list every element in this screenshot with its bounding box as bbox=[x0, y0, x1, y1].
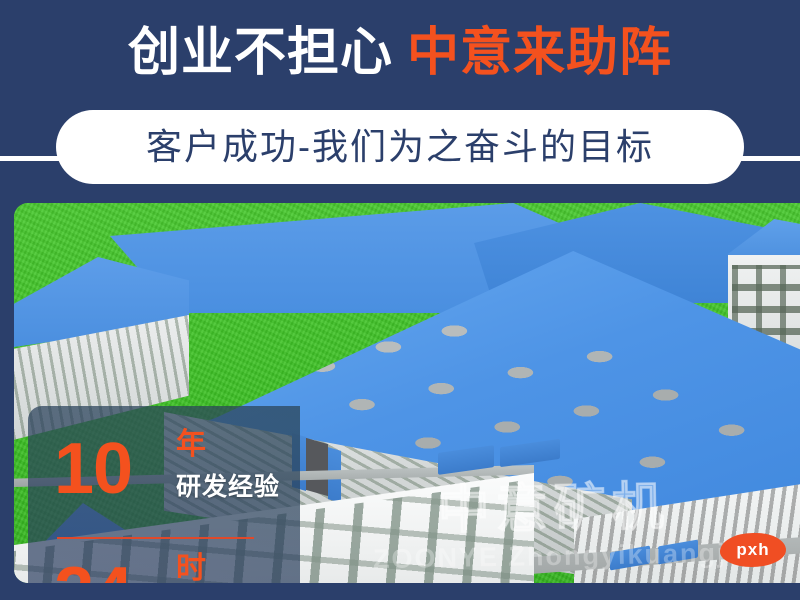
stats-overlay: 10 年 研发经验 24 时 全天在线 1 万+ 个 客户选 bbox=[28, 406, 300, 583]
stat-0-number: 10 bbox=[54, 430, 132, 508]
headline-accent: 中意来助阵 bbox=[407, 24, 672, 82]
banner-header: 创业不担心中意来助阵 客户成功-我们为之奋斗的目标 bbox=[0, 0, 800, 200]
loading-dock-opening-icon bbox=[306, 438, 328, 496]
promo-banner: 创业不担心中意来助阵 客户成功-我们为之奋斗的目标 bbox=[0, 0, 800, 600]
headline-primary: 创业不担心 bbox=[128, 24, 393, 82]
factory-photo: 中意矿机 ZOONYE Zhongyikuangji pxh 10 年 研发经验… bbox=[14, 203, 800, 583]
pxh-badge: pxh bbox=[720, 533, 786, 567]
headline: 创业不担心中意来助阵 bbox=[0, 22, 800, 84]
pxh-badge-label: pxh bbox=[736, 540, 769, 560]
stat-item-1: 24 时 全天在线 bbox=[28, 546, 300, 583]
stat-1-number: 24 bbox=[54, 554, 132, 583]
stat-0-unit: 年 bbox=[176, 428, 207, 462]
stat-1-unit: 时 bbox=[176, 552, 207, 583]
stat-0-caption: 研发经验 bbox=[176, 472, 280, 502]
subtitle-pill: 客户成功-我们为之奋斗的目标 bbox=[56, 110, 744, 184]
stat-separator-0 bbox=[57, 537, 254, 539]
subtitle-text: 客户成功-我们为之奋斗的目标 bbox=[146, 125, 654, 169]
stat-item-0: 10 年 研发经验 bbox=[28, 422, 300, 534]
